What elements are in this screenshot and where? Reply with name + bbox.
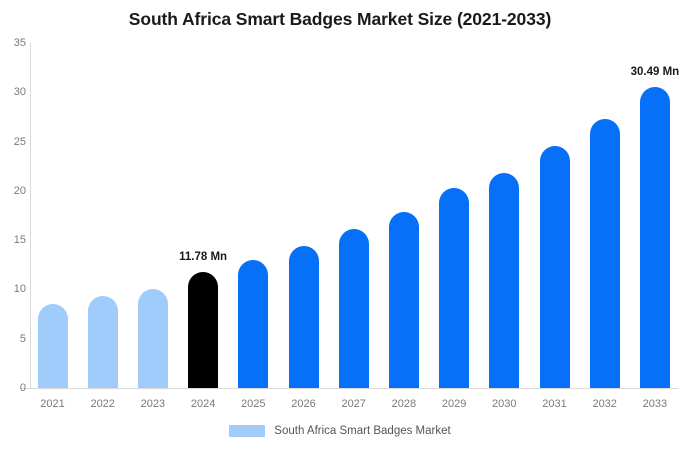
bar-2027[interactable] <box>339 229 369 388</box>
bar-group[interactable] <box>590 119 620 388</box>
bar-group[interactable] <box>339 229 369 388</box>
bar-group[interactable]: 11.78 Mn <box>188 272 218 388</box>
bar-value-label-2033: 30.49 Mn <box>631 66 680 78</box>
bar-2021[interactable] <box>38 304 68 388</box>
x-axis-tick-label: 2026 <box>291 398 315 410</box>
bar-2031[interactable] <box>540 146 570 388</box>
x-axis-tick-label: 2021 <box>40 398 64 410</box>
bar-2026[interactable] <box>289 246 319 388</box>
bar-2032[interactable] <box>590 119 620 388</box>
bar-group[interactable] <box>238 260 268 388</box>
legend-item[interactable]: South Africa Smart Badges Market <box>229 425 450 437</box>
x-axis-tick-label: 2022 <box>90 398 114 410</box>
x-axis-tick-label: 2023 <box>141 398 165 410</box>
bar-2028[interactable] <box>389 212 419 388</box>
bar-group[interactable] <box>88 296 118 388</box>
bar-group[interactable]: 30.49 Mn <box>640 87 670 388</box>
x-axis-tick-label: 2032 <box>592 398 616 410</box>
bars-layer: 11.78 Mn30.49 Mn <box>0 0 680 450</box>
bar-2030[interactable] <box>489 173 519 388</box>
legend-swatch-icon <box>229 425 265 437</box>
bar-2024[interactable] <box>188 272 218 388</box>
x-axis-tick-label: 2031 <box>542 398 566 410</box>
x-axis-tick-label: 2030 <box>492 398 516 410</box>
bar-2029[interactable] <box>439 188 469 388</box>
bar-2025[interactable] <box>238 260 268 388</box>
bar-value-label-2024: 11.78 Mn <box>179 251 227 263</box>
bar-group[interactable] <box>289 246 319 388</box>
x-axis-tick-label: 2029 <box>442 398 466 410</box>
chart-legend: South Africa Smart Badges Market <box>0 425 680 437</box>
bar-2033[interactable] <box>640 87 670 388</box>
chart-container: South Africa Smart Badges Market Size (2… <box>0 0 680 450</box>
bar-group[interactable] <box>489 173 519 388</box>
legend-label: South Africa Smart Badges Market <box>274 425 450 437</box>
x-axis-tick-label: 2024 <box>191 398 215 410</box>
bar-group[interactable] <box>439 188 469 388</box>
bar-group[interactable] <box>138 289 168 388</box>
bar-2022[interactable] <box>88 296 118 388</box>
bar-group[interactable] <box>38 304 68 388</box>
x-axis-tick-label: 2033 <box>643 398 667 410</box>
bar-group[interactable] <box>389 212 419 388</box>
x-axis-tick-label: 2028 <box>392 398 416 410</box>
x-axis-tick-label: 2027 <box>341 398 365 410</box>
bar-2023[interactable] <box>138 289 168 388</box>
bar-group[interactable] <box>540 146 570 388</box>
x-axis-tick-label: 2025 <box>241 398 265 410</box>
x-axis-tick-labels: 2021202220232024202520262027202820292030… <box>0 398 680 418</box>
